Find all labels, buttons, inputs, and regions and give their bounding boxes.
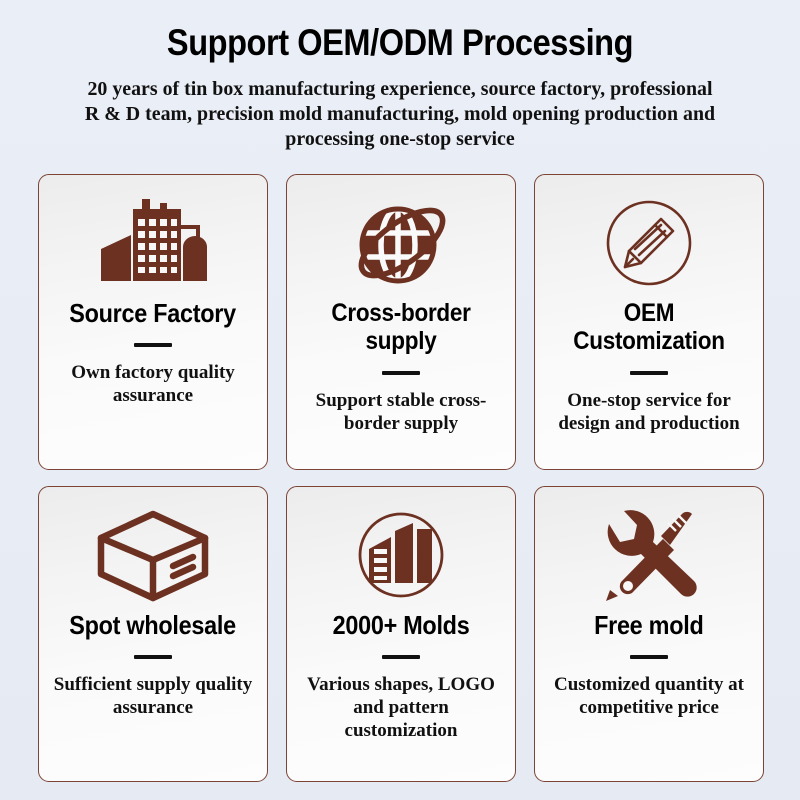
card-description: One-stop service for design and producti… (544, 389, 754, 435)
promo-banner: Support OEM/ODM Processing 20 years of t… (0, 0, 800, 800)
globe-orbit-icon (348, 189, 454, 297)
card-description: Own factory quality assurance (48, 361, 258, 407)
title-divider (382, 655, 420, 659)
feature-card-oem-customization[interactable]: OEM Customization One-stop service for d… (534, 174, 764, 470)
page-subtitle: 20 years of tin box manufacturing experi… (80, 77, 720, 152)
page-title: Support OEM/ODM Processing (74, 22, 725, 64)
feature-card-spot-wholesale[interactable]: Spot wholesale Sufficient supply quality… (38, 486, 268, 782)
card-title: 2000+ Molds (333, 611, 470, 639)
card-title: OEM Customization (555, 299, 742, 355)
feature-card-free-mold[interactable]: Free mold Customized quantity at competi… (534, 486, 764, 782)
title-divider (134, 655, 172, 659)
card-description: Sufficient supply quality assurance (48, 673, 258, 719)
wrench-screwdriver-icon (597, 501, 701, 609)
card-description: Support stable cross-border supply (296, 389, 506, 435)
card-title: Spot wholesale (70, 611, 237, 639)
card-title: Cross-border supply (307, 299, 494, 355)
title-divider (382, 371, 420, 375)
pencil-circle-icon (599, 189, 699, 297)
card-title: Source Factory (70, 299, 237, 327)
box-icon (95, 501, 211, 609)
feature-card-molds[interactable]: 2000+ Molds Various shapes, LOGO and pat… (286, 486, 516, 782)
card-title: Free mold (594, 611, 703, 639)
title-divider (630, 655, 668, 659)
card-description: Customized quantity at competitive price (544, 673, 754, 719)
feature-card-source-factory[interactable]: Source Factory Own factory quality assur… (38, 174, 268, 470)
title-divider (630, 371, 668, 375)
buildings-circle-icon (351, 501, 451, 609)
feature-card-cross-border-supply[interactable]: Cross-border supply Support stable cross… (286, 174, 516, 470)
card-description: Various shapes, LOGO and pattern customi… (296, 673, 506, 742)
feature-card-grid: Source Factory Own factory quality assur… (38, 174, 764, 782)
header: Support OEM/ODM Processing 20 years of t… (0, 0, 800, 152)
factory-icon (97, 189, 209, 297)
title-divider (134, 343, 172, 347)
